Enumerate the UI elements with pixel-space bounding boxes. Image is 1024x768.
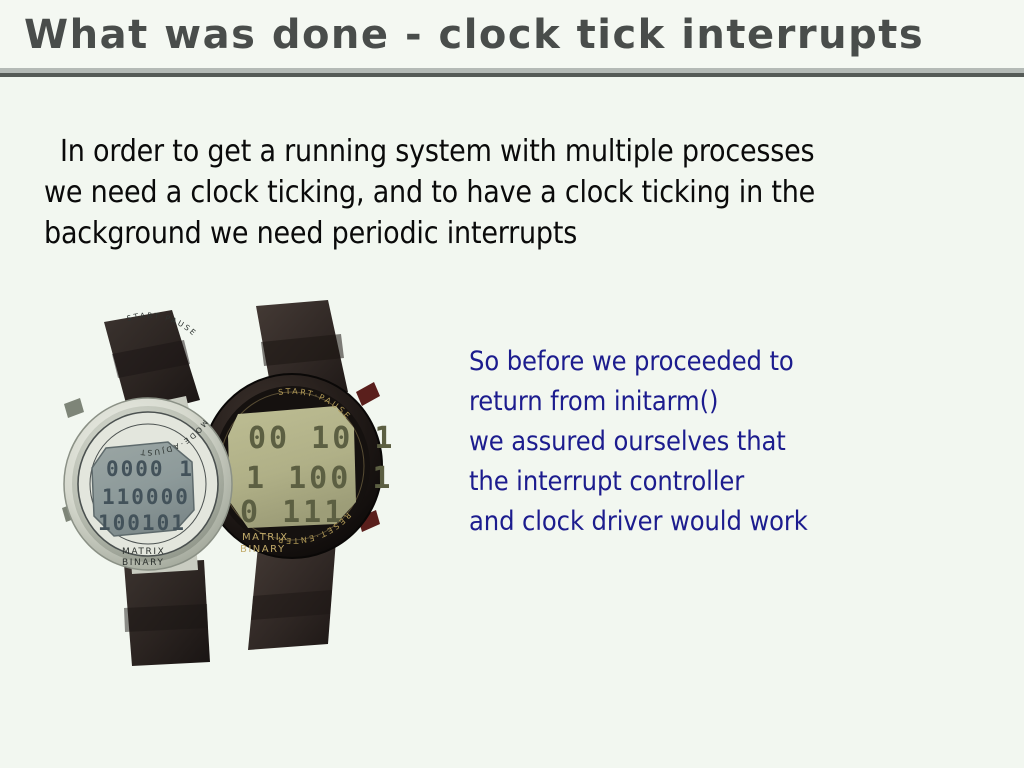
body-line-3: background we need periodic interrupts — [44, 213, 964, 254]
body-paragraph: In order to get a running system with mu… — [44, 131, 964, 254]
front-watch-lcd-row-1: 0000 1 — [106, 457, 194, 481]
blue-note-line-5: and clock driver would work — [469, 502, 939, 542]
front-watch-brand-line-1: MATRIX — [122, 547, 165, 557]
page-title: What was done - clock tick interrupts — [24, 9, 924, 61]
title-divider — [0, 68, 1024, 76]
front-silver-watch: 0000 1 110000 100101 START·PAUSE MODE·AD… — [62, 310, 232, 666]
body-line-1: In order to get a running system with mu… — [44, 131, 964, 172]
binary-lcd-watches-photo: 00 10 1 1 100 1 0 111 START·PAUSE RESET·… — [60, 296, 400, 668]
blue-note-line-3: we assured ourselves that — [469, 422, 939, 462]
title-divider-dark-band — [0, 73, 1024, 77]
blue-note-line-2: return from initarm() — [469, 382, 939, 422]
blue-note-paragraph: So before we proceeded to return from in… — [469, 342, 939, 542]
front-watch-lcd-row-3: 100101 — [98, 511, 186, 535]
blue-note-line-4: the interrupt controller — [469, 462, 939, 502]
front-watch-lower-strap — [124, 560, 210, 666]
rear-watch-lcd-row-1: 00 10 1 — [248, 421, 395, 456]
slide-canvas: What was done - clock tick interrupts In… — [0, 0, 1024, 768]
rear-watch-lcd-row-3: 0 111 — [240, 495, 345, 530]
front-watch-brand-line-2: BINARY — [122, 558, 165, 568]
rear-watch-brand-line-1: MATRIX — [242, 532, 289, 543]
body-line-2: we need a clock ticking, and to have a c… — [44, 172, 964, 213]
rear-watch-brand-line-2: BINARY — [240, 544, 286, 555]
rear-watch-lcd-row-2: 1 100 1 — [246, 461, 393, 496]
front-watch-lcd-row-2: 110000 — [102, 485, 190, 509]
blue-note-line-1: So before we proceeded to — [469, 342, 939, 382]
slide-title-bar: What was done - clock tick interrupts — [0, 0, 1024, 68]
